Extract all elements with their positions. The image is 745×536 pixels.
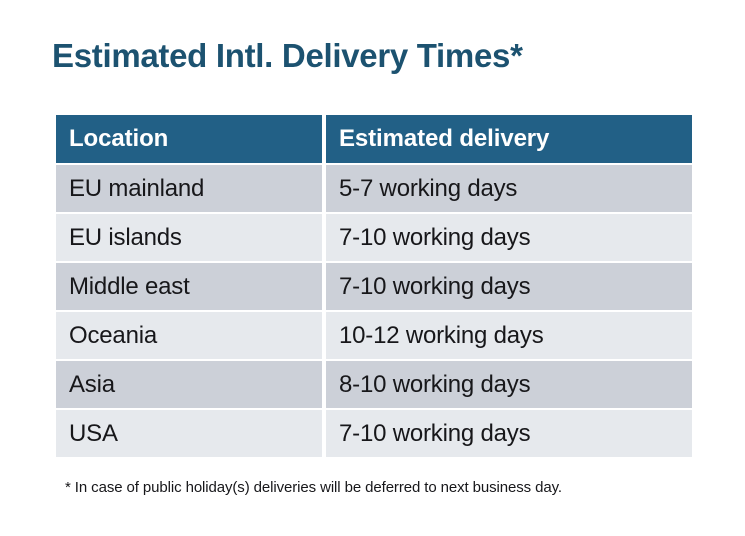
table-row: Oceania 10-12 working days [56, 312, 692, 359]
cell-delivery: 7-10 working days [326, 410, 692, 457]
table-row: Middle east 7-10 working days [56, 263, 692, 310]
table-body: EU mainland 5-7 working days EU islands … [56, 165, 692, 457]
table-row: EU mainland 5-7 working days [56, 165, 692, 212]
delivery-times-page: Estimated Intl. Delivery Times* Location… [0, 0, 745, 536]
cell-location: Middle east [56, 263, 322, 310]
cell-delivery: 10-12 working days [326, 312, 692, 359]
cell-location: EU islands [56, 214, 322, 261]
table-header-row: Location Estimated delivery [56, 115, 692, 163]
table-header: Location Estimated delivery [56, 115, 692, 163]
column-header-delivery: Estimated delivery [326, 115, 692, 163]
footnote-text: * In case of public holiday(s) deliverie… [65, 479, 562, 496]
cell-location: Asia [56, 361, 322, 408]
table-row: EU islands 7-10 working days [56, 214, 692, 261]
cell-location: EU mainland [56, 165, 322, 212]
cell-location: Oceania [56, 312, 322, 359]
table-row: USA 7-10 working days [56, 410, 692, 457]
cell-delivery: 7-10 working days [326, 214, 692, 261]
column-header-location: Location [56, 115, 322, 163]
page-title: Estimated Intl. Delivery Times* [52, 36, 523, 76]
cell-delivery: 8-10 working days [326, 361, 692, 408]
delivery-times-table: Location Estimated delivery EU mainland … [52, 113, 696, 459]
cell-delivery: 5-7 working days [326, 165, 692, 212]
table-row: Asia 8-10 working days [56, 361, 692, 408]
cell-location: USA [56, 410, 322, 457]
cell-delivery: 7-10 working days [326, 263, 692, 310]
